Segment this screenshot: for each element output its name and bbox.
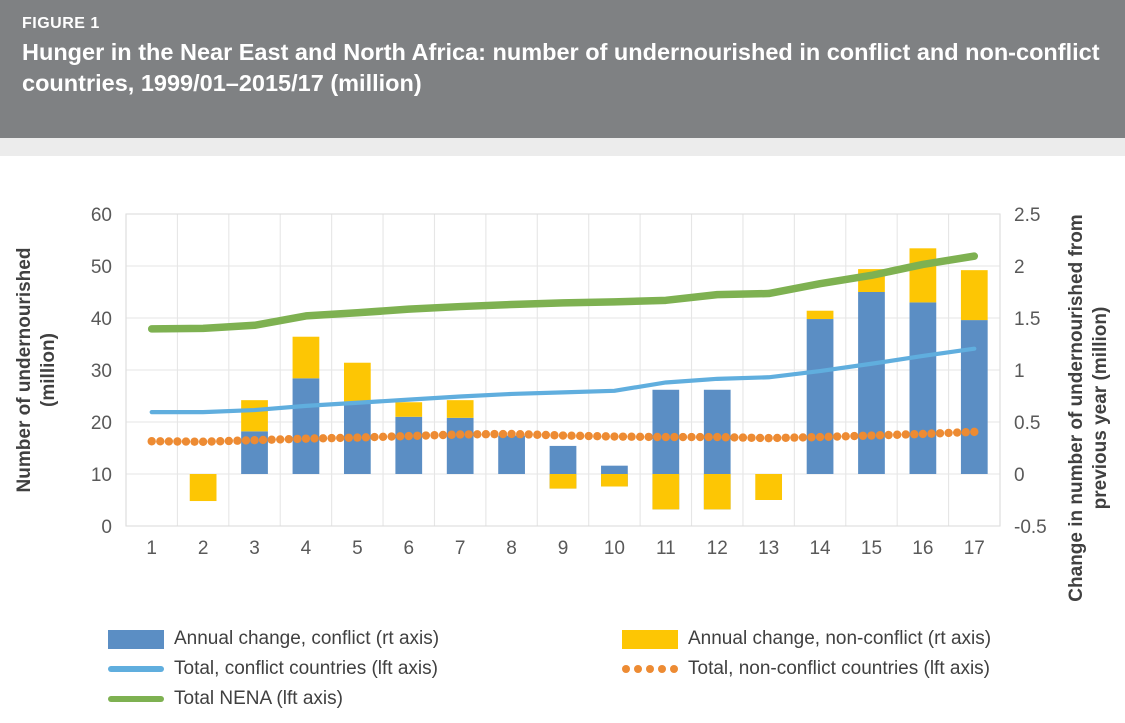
line-dot [242, 436, 250, 444]
y2-axis-tick-label: 0.5 [1014, 413, 1040, 434]
x-axis-tick-label: 15 [861, 538, 882, 559]
line-dot [319, 434, 327, 442]
bar-segment [807, 311, 834, 319]
y2-axis-tick-label: 2 [1014, 257, 1025, 278]
y-axis-tick-label: 20 [91, 413, 112, 434]
bar-segment [344, 363, 371, 403]
line-dot [962, 428, 970, 436]
line-dot [730, 433, 738, 441]
y-axis-tick-label: 50 [91, 257, 112, 278]
bar-segment [961, 320, 988, 474]
line-dot [687, 433, 695, 441]
line-dot [602, 432, 610, 440]
line-dot [713, 433, 721, 441]
line-dot [405, 432, 413, 440]
legend-total-nonconflict[interactable]: Total, non-conflict countries (lft axis) [622, 654, 991, 684]
legend-swatch-line-nena [108, 689, 164, 709]
line-dot [927, 429, 935, 437]
line-dot [148, 437, 156, 445]
line-dot [482, 430, 490, 438]
data-line [152, 349, 975, 412]
bar-segment [961, 270, 988, 320]
line-dot [722, 433, 730, 441]
line-dot [876, 431, 884, 439]
line-dot [259, 436, 267, 444]
line-dot [953, 428, 961, 436]
line-dot [473, 430, 481, 438]
line-dot [233, 437, 241, 445]
x-axis-tick-label: 9 [558, 538, 569, 559]
line-dot [499, 430, 507, 438]
x-axis-tick-label: 14 [809, 538, 831, 559]
line-dot [387, 432, 395, 440]
line-dot [576, 432, 584, 440]
line-dot [782, 434, 790, 442]
line-dot [559, 431, 567, 439]
line-dot [353, 433, 361, 441]
legend-annual-change-conflict[interactable]: Annual change, conflict (rt axis) [108, 624, 439, 654]
figure-container: FIGURE 1 Hunger in the Near East and Nor… [0, 0, 1125, 723]
x-axis-tick-label: 17 [964, 538, 985, 559]
line-dot [465, 430, 473, 438]
bar-segment [241, 400, 268, 431]
y2-axis-tick-label: 0 [1014, 465, 1025, 486]
bar-segment [550, 474, 577, 489]
line-dot [370, 433, 378, 441]
line-dot [910, 430, 918, 438]
legend-label-annual-change-nonconflict: Annual change, non-conflict (rt axis) [688, 628, 991, 650]
legend-label-total-conflict: Total, conflict countries (lft axis) [174, 658, 438, 680]
bar-segment [293, 337, 320, 379]
bar-segment [755, 474, 782, 500]
line-dot [310, 434, 318, 442]
y-axis-tick-label: 30 [91, 361, 112, 382]
y2-axis-title: Change in number of undernourished fromp… [1066, 214, 1111, 601]
legend-label-annual-change-conflict: Annual change, conflict (rt axis) [174, 628, 439, 650]
line-dot [816, 433, 824, 441]
figure-number-label: FIGURE 1 [22, 14, 1103, 33]
line-dot [919, 430, 927, 438]
line-dot [165, 437, 173, 445]
bar-segment [704, 474, 731, 509]
legend-annual-change-nonconflict[interactable]: Annual change, non-conflict (rt axis) [622, 624, 991, 654]
line-dot [850, 432, 858, 440]
figure-header-band: FIGURE 1 Hunger in the Near East and Nor… [0, 0, 1125, 138]
bar-segment [447, 418, 474, 474]
bar-segment [395, 417, 422, 474]
legend-total-conflict[interactable]: Total, conflict countries (lft axis) [108, 654, 439, 684]
x-axis-tick-label: 7 [455, 538, 466, 559]
line-dot [190, 437, 198, 445]
axis-labels-group: 0102030405060-0.500.511.522.512345678910… [14, 205, 1111, 602]
chart-legend: Annual change, conflict (rt axis) Total,… [0, 620, 1125, 723]
line-dot [156, 437, 164, 445]
line-dot [593, 432, 601, 440]
line-dot [679, 433, 687, 441]
bar-segment [858, 292, 885, 474]
line-dot [276, 435, 284, 443]
legend-swatch-dots-nonconflict [622, 659, 678, 679]
line-dot [525, 430, 533, 438]
y2-axis-tick-label: 1.5 [1014, 309, 1040, 330]
line-dot [627, 433, 635, 441]
line-dot [550, 431, 558, 439]
line-dot [696, 433, 704, 441]
x-axis-tick-label: 16 [912, 538, 933, 559]
line-dot [619, 432, 627, 440]
line-dot [867, 431, 875, 439]
bar-segment [447, 400, 474, 418]
x-axis-tick-label: 11 [656, 538, 676, 559]
lines-group [148, 256, 979, 446]
line-dot [199, 438, 207, 446]
line-dot [670, 433, 678, 441]
line-dot [456, 430, 464, 438]
line-dot [182, 437, 190, 445]
line-dot [636, 433, 644, 441]
line-dot [413, 432, 421, 440]
y2-axis-tick-label: -0.5 [1014, 517, 1047, 538]
line-dot [345, 434, 353, 442]
svg-text:(million): (million) [38, 333, 59, 407]
line-dot [216, 437, 224, 445]
line-dot [422, 431, 430, 439]
bar-segment [807, 319, 834, 474]
line-dot [293, 435, 301, 443]
line-dot [439, 431, 447, 439]
line-dot [396, 432, 404, 440]
legend-swatch-line-conflict [108, 659, 164, 679]
bar-segment [601, 474, 628, 486]
bar-segment [910, 248, 937, 302]
svg-text:Change in number of undernouri: Change in number of undernourished from [1066, 214, 1087, 601]
line-dot [327, 434, 335, 442]
line-dot [285, 435, 293, 443]
line-dot [430, 431, 438, 439]
line-dot [225, 437, 233, 445]
header-divider [0, 138, 1125, 156]
line-dot [739, 433, 747, 441]
legend-label-total-nonconflict: Total, non-conflict countries (lft axis) [688, 658, 990, 680]
legend-column-left: Annual change, conflict (rt axis) Total,… [108, 624, 439, 714]
bar-segment [910, 302, 937, 474]
bar-segment [652, 474, 679, 509]
line-dot [610, 432, 618, 440]
x-axis-tick-label: 10 [604, 538, 625, 559]
line-dot [585, 432, 593, 440]
x-axis-tick-label: 3 [249, 538, 260, 559]
line-dot [773, 434, 781, 442]
line-dot [824, 433, 832, 441]
line-dot [764, 434, 772, 442]
x-axis-tick-label: 6 [403, 538, 414, 559]
line-dot [653, 433, 661, 441]
bar-segment [498, 436, 525, 474]
bar-segment [293, 378, 320, 474]
chart-area: 0102030405060-0.500.511.522.512345678910… [0, 156, 1125, 618]
line-dot [662, 433, 670, 441]
chart-svg: 0102030405060-0.500.511.522.512345678910… [0, 156, 1125, 618]
legend-total-nena[interactable]: Total NENA (lft axis) [108, 684, 439, 714]
line-dot [336, 434, 344, 442]
line-dot [362, 433, 370, 441]
x-axis-tick-label: 4 [301, 538, 312, 559]
line-dot [842, 432, 850, 440]
line-dot [807, 433, 815, 441]
line-dot [936, 429, 944, 437]
y-axis-tick-label: 0 [101, 517, 112, 538]
line-dot [644, 433, 652, 441]
line-dot [250, 436, 258, 444]
line-dot [799, 433, 807, 441]
svg-text:previous year (million): previous year (million) [1090, 307, 1111, 510]
x-axis-tick-label: 12 [707, 538, 728, 559]
line-dot [173, 437, 181, 445]
line-dot [447, 431, 455, 439]
line-dot [302, 434, 310, 442]
line-dot [507, 430, 515, 438]
line-dot [790, 433, 798, 441]
x-axis-tick-label: 5 [352, 538, 363, 559]
line-dot [833, 432, 841, 440]
line-dot [893, 431, 901, 439]
y-axis-tick-label: 60 [91, 205, 112, 226]
legend-column-right: Annual change, non-conflict (rt axis) To… [622, 624, 991, 684]
line-dot [379, 433, 387, 441]
x-axis-tick-label: 2 [198, 538, 209, 559]
y-axis-tick-label: 10 [91, 465, 112, 486]
y-axis-title: Number of undernourished(million) [14, 248, 59, 493]
x-axis-tick-label: 1 [146, 538, 157, 559]
x-axis-tick-label: 13 [758, 538, 779, 559]
line-dot [884, 431, 892, 439]
legend-label-total-nena: Total NENA (lft axis) [174, 688, 343, 710]
line-dot [542, 431, 550, 439]
line-dot [704, 433, 712, 441]
legend-swatch-bar-nonconflict [622, 629, 678, 649]
line-dot [267, 435, 275, 443]
line-dot [533, 431, 541, 439]
legend-swatch-bar-conflict [108, 629, 164, 649]
line-dot [970, 428, 978, 436]
figure-title: Hunger in the Near East and North Africa… [22, 37, 1103, 99]
x-axis-tick-label: 8 [506, 538, 517, 559]
y2-axis-tick-label: 2.5 [1014, 205, 1040, 226]
svg-text:Number of undernourished: Number of undernourished [14, 248, 35, 493]
line-dot [944, 429, 952, 437]
line-dot [567, 431, 575, 439]
line-dot [902, 430, 910, 438]
line-dot [747, 434, 755, 442]
line-dot [859, 432, 867, 440]
y-axis-tick-label: 40 [91, 309, 112, 330]
bar-segment [190, 474, 217, 501]
line-dot [207, 437, 215, 445]
line-dot [516, 430, 524, 438]
line-dot [756, 434, 764, 442]
y2-axis-tick-label: 1 [1014, 361, 1025, 382]
line-dot [490, 430, 498, 438]
bar-segment [395, 402, 422, 417]
